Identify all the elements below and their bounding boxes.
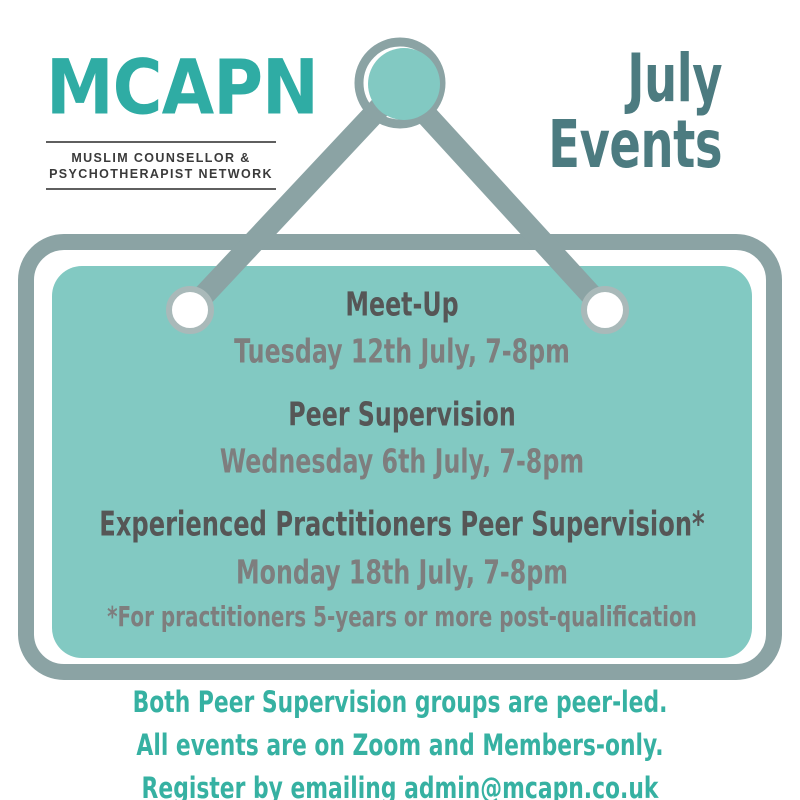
event-0-title: Meet-Up [83, 288, 721, 321]
logo-divider-bottom [46, 188, 276, 190]
hanger-pivot-ring [359, 42, 441, 124]
event-2-title: Experienced Practitioners Peer Supervisi… [90, 508, 715, 542]
logo-wordmark: MCAPN [46, 52, 276, 127]
event-0-date: Tuesday 12th July, 7-8pm [83, 335, 721, 368]
hanger-pivot-circle [368, 48, 440, 120]
footer-line-3: Register by emailing admin@mcapn.co.uk [20, 775, 780, 800]
event-1-title: Peer Supervision [83, 398, 721, 431]
footer-line-2: All events are on Zoom and Members-only. [20, 732, 780, 761]
footer-notes: Both Peer Supervision groups are peer-le… [0, 692, 800, 800]
title-line-month: July [548, 46, 722, 112]
poster-canvas: MCAPN MUSLIM COUNSELLOR & PSYCHOTHERAPIS… [0, 0, 800, 800]
event-1-date: Wednesday 6th July, 7-8pm [83, 445, 721, 478]
logo-divider-top [46, 141, 276, 143]
logo-subtitle-line-1: MUSLIM COUNSELLOR & [46, 150, 276, 166]
event-2-date: Monday 18th July, 7-8pm [83, 556, 721, 589]
footer-line-1: Both Peer Supervision groups are peer-le… [20, 689, 780, 718]
logo-subtitle-line-2: PSYCHOTHERAPIST NETWORK [46, 166, 276, 182]
mcapn-logo: MCAPN MUSLIM COUNSELLOR & PSYCHOTHERAPIS… [46, 52, 276, 190]
page-title: July Events [520, 46, 722, 166]
event-2-note: *For practitioners 5-years or more post-… [83, 604, 721, 631]
sign-board-panel: Meet-Up Tuesday 12th July, 7-8pm Peer Su… [52, 266, 752, 658]
title-line-events: Events [548, 112, 722, 178]
